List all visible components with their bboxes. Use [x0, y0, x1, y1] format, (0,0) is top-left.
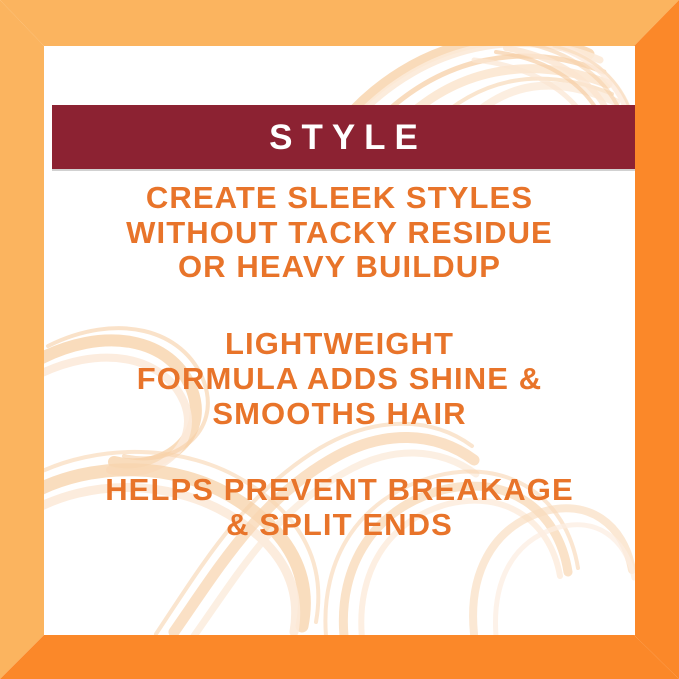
poster-canvas: STYLE CREATE SLEEK STYLES WITHOUT TACKY … [44, 46, 635, 635]
product-benefits-poster: STYLE CREATE SLEEK STYLES WITHOUT TACKY … [0, 0, 679, 679]
benefit-text-block: LIGHTWEIGHT FORMULA ADDS SHINE & SMOOTHS… [44, 327, 635, 431]
benefits-copy: CREATE SLEEK STYLES WITHOUT TACKY RESIDU… [44, 181, 635, 543]
frame-border-bottom [0, 635, 679, 679]
frame-border-right [634, 0, 679, 679]
frame-border-left [0, 0, 44, 679]
banner-title: STYLE [260, 120, 427, 155]
frame-border-top [0, 0, 679, 46]
benefit-text-block: HELPS PREVENT BREAKAGE & SPLIT ENDS [44, 473, 635, 542]
section-banner: STYLE [52, 105, 635, 169]
benefit-text-block: CREATE SLEEK STYLES WITHOUT TACKY RESIDU… [44, 181, 635, 285]
